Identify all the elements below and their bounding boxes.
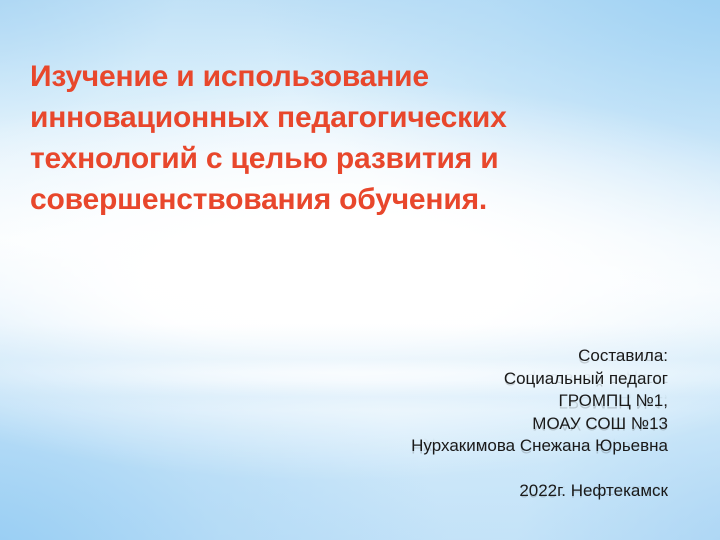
title-line: инновационных педагогических (30, 97, 590, 138)
byline-text: Социальный педагог (504, 369, 668, 388)
slide-title: Изучение и использование инновационных п… (30, 56, 590, 220)
title-line: Изучение и использование (30, 56, 590, 97)
byline-spacer (238, 458, 668, 480)
title-line: совершенствования обучения. (30, 179, 590, 220)
slide-byline: Составила: Составила: Социальный педагог… (238, 345, 668, 502)
byline-line: МОАУ СОШ №13 МОАУ СОШ №13 (238, 413, 668, 436)
byline-line: Составила: Составила: (238, 345, 668, 368)
byline-line: Нурхакимова Снежана Юрьевна Нурхакимова … (238, 435, 668, 458)
byline-text: 2022г. Нефтекамск (519, 481, 668, 500)
byline-text: Нурхакимова Снежана Юрьевна (411, 436, 668, 455)
presentation-slide: Изучение и использование инновационных п… (0, 0, 720, 540)
byline-line: ГРОМПЦ №1, ГРОМПЦ №1, (238, 390, 668, 413)
byline-text: МОАУ СОШ №13 (532, 414, 668, 433)
byline-line: Социальный педагог Социальный педагог (238, 368, 668, 391)
title-line: технологий с целью развития и (30, 138, 590, 179)
byline-text: Составила: (578, 346, 668, 365)
byline-text: ГРОМПЦ №1, (559, 391, 669, 410)
byline-line: 2022г. Нефтекамск 2022г. Нефтекамск (238, 480, 668, 503)
